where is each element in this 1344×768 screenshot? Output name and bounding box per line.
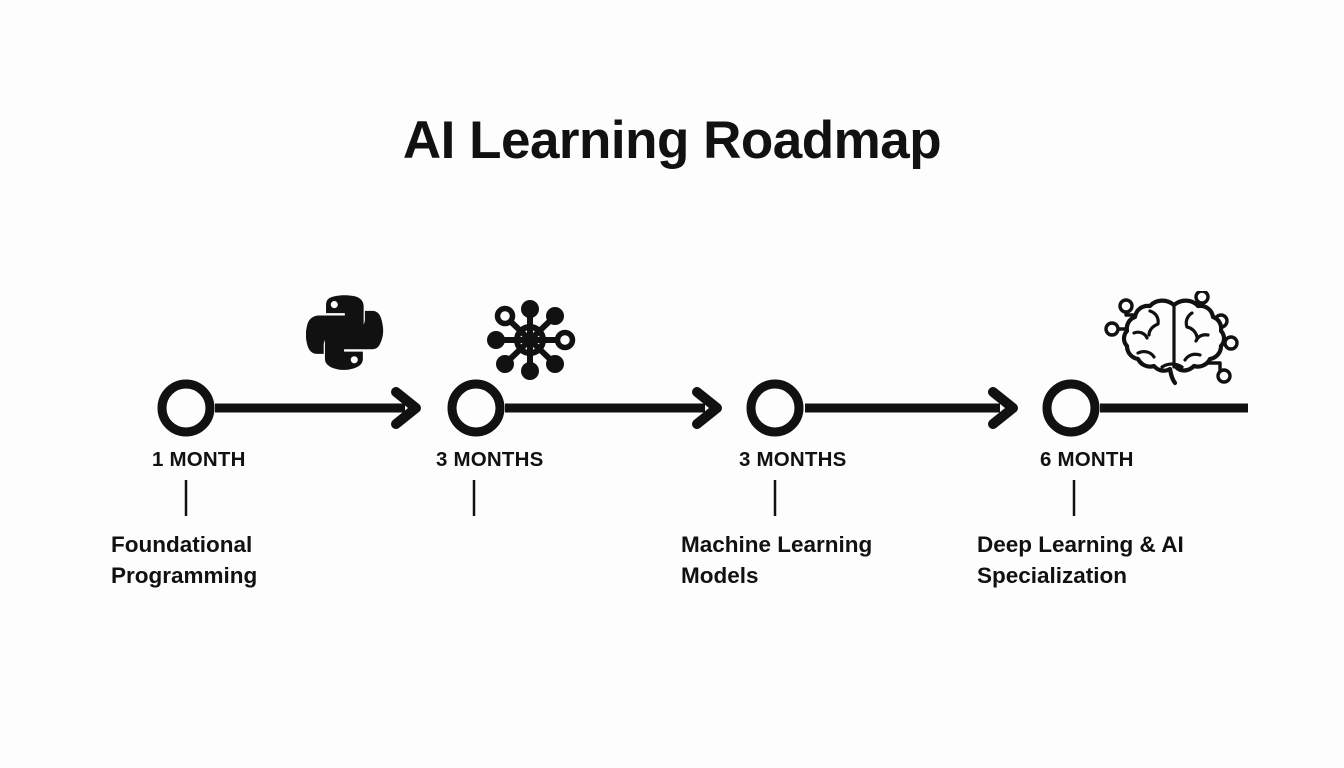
arrowhead-3 bbox=[993, 392, 1013, 424]
network-hub-icon bbox=[478, 298, 582, 387]
page-title: AI Learning Roadmap bbox=[0, 112, 1344, 170]
python-logo-icon bbox=[306, 292, 384, 375]
milestone-node-3[interactable] bbox=[751, 384, 799, 432]
milestone-node-4[interactable] bbox=[1047, 384, 1095, 432]
milestone-node-2[interactable] bbox=[452, 384, 500, 432]
stage-duration-2: 3 MONTHS bbox=[436, 448, 544, 472]
stage-duration-4: 6 MONTH bbox=[1040, 448, 1134, 472]
stage-description-3: Machine Learning Models bbox=[681, 530, 931, 592]
ai-brain-circuit-icon bbox=[1104, 291, 1246, 396]
stage-duration-3: 3 MONTHS bbox=[739, 448, 847, 472]
stage-duration-1: 1 MONTH bbox=[152, 448, 246, 472]
arrowhead-1 bbox=[396, 392, 416, 424]
roadmap-infographic: AI Learning Roadmap bbox=[0, 0, 1344, 768]
stage-description-4: Deep Learning & AI Specialization bbox=[977, 530, 1227, 592]
milestone-node-1[interactable] bbox=[162, 384, 210, 432]
stage-description-1: Foundational Programming bbox=[111, 530, 361, 592]
arrowhead-2 bbox=[697, 392, 717, 424]
